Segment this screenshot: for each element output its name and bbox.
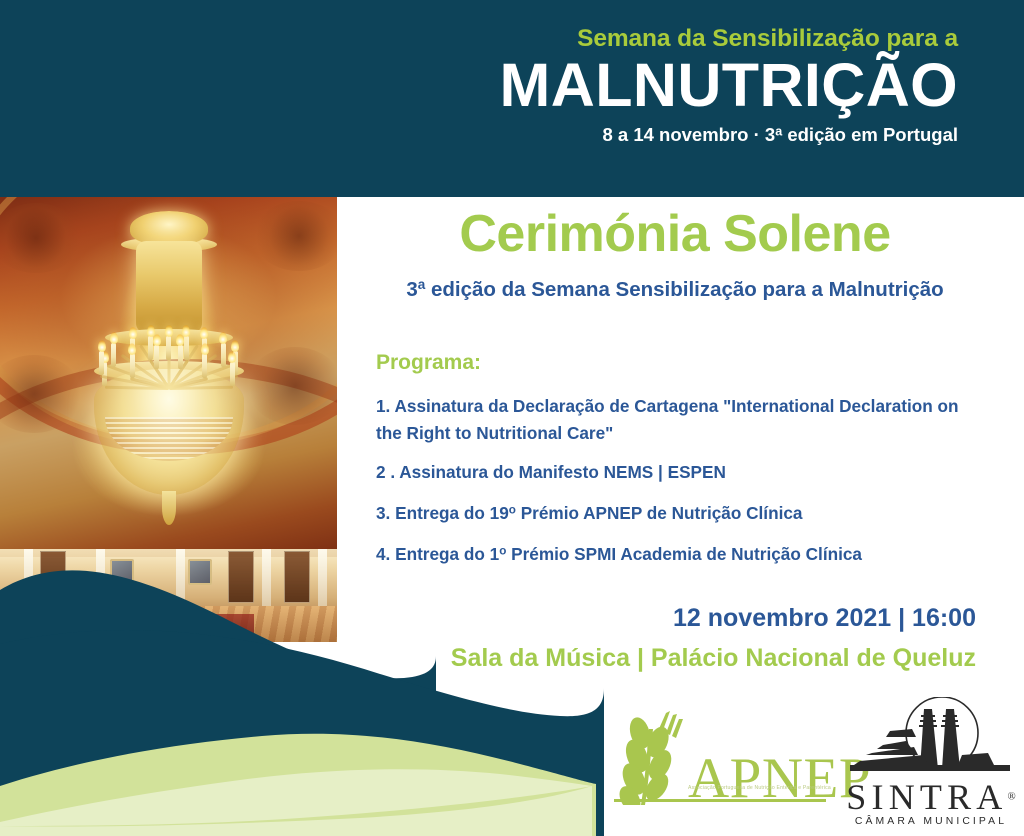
programa-item: 4. Entrega do 1o Prémio SPMI Academia de… bbox=[376, 541, 962, 568]
candle-flame-icon bbox=[165, 325, 173, 337]
chandelier-candle bbox=[111, 343, 116, 367]
sintra-subtitle: CÂMARA MUNICIPAL bbox=[844, 816, 1018, 827]
event-subtitle: 3a edição da Semana Sensibilização para … bbox=[360, 277, 990, 302]
hall-doorway bbox=[40, 551, 66, 603]
event-subtitle-suffix: edição da Semana Sensibilização para a M… bbox=[425, 278, 943, 301]
chandelier-icon bbox=[59, 211, 279, 541]
hall-doorway bbox=[284, 551, 310, 603]
chandelier-drum bbox=[136, 241, 202, 333]
campaign-dates-suffix: edição em Portugal bbox=[782, 124, 958, 145]
candle-flame-icon bbox=[176, 334, 184, 346]
chandelier-finial bbox=[162, 491, 176, 525]
hall-carpet bbox=[96, 614, 136, 640]
campaign-header-text: Semana da Sensibilização para a MALNUTRI… bbox=[258, 26, 958, 145]
programa-item-suffix: Prémio SPMI Academia de Nutrição Clínica bbox=[506, 544, 862, 564]
programa-item: 1. Assinatura da Declaração de Cartagena… bbox=[376, 393, 962, 447]
apnep-logo: APNEP Associação Portuguesa de Nutrição … bbox=[610, 697, 830, 829]
photo-ceiling-fresco bbox=[0, 197, 337, 557]
hall-column bbox=[24, 549, 33, 611]
green-wave-mid bbox=[0, 734, 596, 836]
campaign-header-band: Semana da Sensibilização para a MALNUTRI… bbox=[0, 0, 1024, 197]
campaign-kicker: Semana da Sensibilização para a bbox=[258, 26, 958, 53]
chandelier-candle bbox=[130, 354, 135, 378]
sponsor-logo-strip: APNEP Associação Portuguesa de Nutrição … bbox=[610, 697, 1024, 836]
chandelier-candle bbox=[154, 345, 159, 369]
candle-flame-icon bbox=[219, 332, 227, 344]
sintra-logo: SINTRA® CÂMARA MUNICIPAL bbox=[838, 697, 1024, 836]
candle-flame-icon bbox=[129, 327, 137, 339]
programa-item-prefix: 3. Entrega do 19 bbox=[376, 503, 509, 523]
hall-carpet bbox=[214, 614, 254, 640]
sintra-palace-chimneys-icon bbox=[838, 697, 1024, 783]
hall-column bbox=[96, 549, 105, 611]
programa-label: Programa: bbox=[376, 351, 990, 375]
campaign-dates: 8 a 14 novembro · 3a edição em Portugal bbox=[258, 125, 958, 145]
chandelier-crown bbox=[130, 211, 208, 245]
hall-doorway bbox=[228, 551, 254, 603]
wheat-stalk-icon bbox=[610, 709, 684, 805]
poster-canvas: Semana da Sensibilização para a MALNUTRI… bbox=[0, 0, 1024, 836]
programa-item-prefix: 4. Entrega do 1 bbox=[376, 544, 499, 564]
candle-flame-icon bbox=[200, 327, 208, 339]
event-subtitle-prefix: 3 bbox=[406, 278, 417, 301]
candle-flame-icon bbox=[182, 325, 190, 337]
candle-flame-icon bbox=[228, 351, 236, 363]
chandelier-candle bbox=[166, 336, 171, 360]
chandelier-candle bbox=[184, 336, 189, 360]
hall-column bbox=[262, 549, 271, 611]
apnep-underline-rule bbox=[614, 799, 826, 802]
chandelier-candle bbox=[230, 362, 235, 386]
sintra-registered-mark: ® bbox=[1008, 790, 1016, 802]
programa-list: 1. Assinatura da Declaração de Cartagena… bbox=[376, 393, 990, 569]
campaign-dates-prefix: 8 a 14 novembro · 3 bbox=[602, 124, 775, 145]
sintra-wordmark-text: SINTRA bbox=[846, 777, 1007, 817]
chandelier-candle bbox=[178, 345, 183, 369]
event-venue: Sala da Música | Palácio Nacional de Que… bbox=[360, 644, 976, 673]
hall-column bbox=[318, 549, 327, 611]
green-wave-light-base bbox=[0, 786, 592, 836]
programa-item-suffix: Prémio APNEP de Nutrição Clínica bbox=[516, 503, 803, 523]
chandelier-candle bbox=[221, 343, 226, 367]
apnep-tagline: Associação Portuguesa de Nutrição Entéri… bbox=[688, 785, 831, 791]
campaign-title: MALNUTRIÇÃO bbox=[258, 55, 958, 116]
green-wave-light bbox=[0, 769, 592, 826]
candle-flame-icon bbox=[128, 343, 136, 355]
chandelier-candle bbox=[202, 354, 207, 378]
programa-item-ordinal: o bbox=[509, 503, 516, 516]
event-title: Cerimónia Solene bbox=[360, 205, 990, 263]
hall-painting bbox=[110, 559, 134, 585]
event-content: Cerimónia Solene 3a edição da Semana Sen… bbox=[360, 205, 990, 673]
hall-parquet-floor bbox=[0, 606, 337, 642]
photo-hall-interior bbox=[0, 549, 337, 642]
candle-flame-icon bbox=[201, 343, 209, 355]
programa-item: 2 . Assinatura do Manifesto NEMS | ESPEN bbox=[376, 459, 962, 486]
event-datetime: 12 novembro 2021 | 16:00 bbox=[360, 604, 976, 633]
programa-item: 3. Entrega do 19o Prémio APNEP de Nutriç… bbox=[376, 500, 962, 527]
sintra-wordmark: SINTRA® bbox=[844, 779, 1018, 815]
chandelier-candle bbox=[99, 351, 104, 375]
hall-column bbox=[176, 549, 185, 611]
venue-photo bbox=[0, 197, 337, 642]
hall-painting bbox=[188, 559, 212, 585]
